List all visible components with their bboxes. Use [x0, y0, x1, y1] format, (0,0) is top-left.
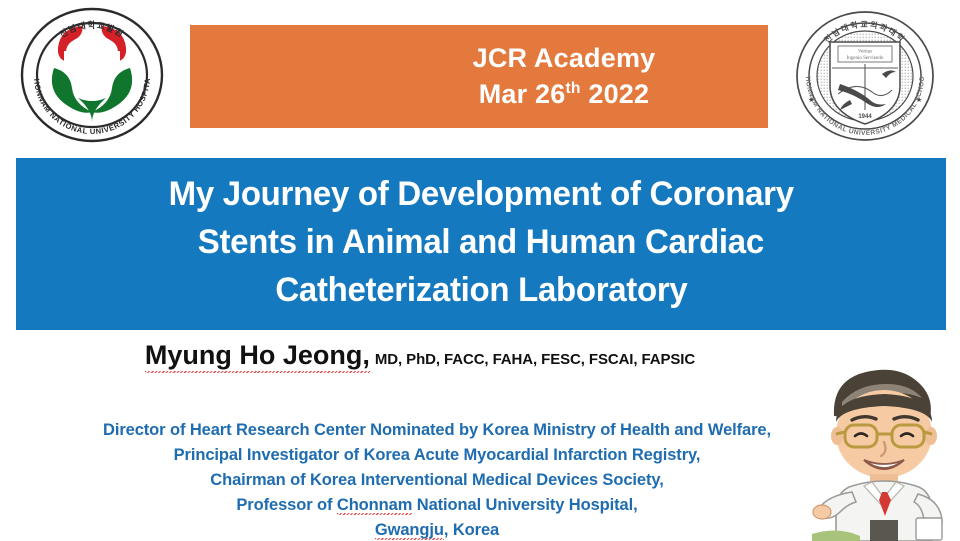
affiliation-line-4-suffix: National University Hospital, [412, 496, 637, 514]
affiliation-line-4-prefix: Professor of [236, 496, 336, 514]
chonnam-national-university-hospital-logo: 전남대학교발원 CHONNAM NATIONAL UNIVERSITY HOSP… [16, 2, 168, 144]
event-date-year: 2022 [581, 79, 650, 109]
seal-motto-line2: Ingenio Serviendo [847, 56, 884, 61]
presenter-name: Myung Ho Jeong, [145, 340, 370, 373]
event-date-prefix: Mar 26 [479, 79, 566, 109]
event-banner: JCR Academy Mar 26th 2022 [190, 25, 768, 128]
title-line-3: Catheterization Laboratory [275, 266, 687, 314]
presentation-slide: 전남대학교발원 CHONNAM NATIONAL UNIVERSITY HOSP… [0, 0, 960, 541]
affiliation-line-4: Professor of Chonnam National University… [0, 493, 874, 518]
chonnam-national-university-medical-school-seal: Veritas Ingenio Serviendo 1944 전남대학교의과대학… [790, 6, 940, 146]
presenter-credentials: MD, PhD, FACC, FAHA, FESC, FSCAI, FAPSIC [375, 351, 695, 368]
title-line-1: My Journey of Development of Coronary [168, 170, 793, 218]
affiliation-line-5-suffix: , Korea [444, 521, 499, 539]
presenter-caricature [812, 362, 960, 541]
affiliation-line-5-misspelled-word: Gwangju [375, 521, 444, 540]
svg-text:★: ★ [916, 96, 922, 104]
presentation-title-box: My Journey of Development of Coronary St… [16, 158, 946, 330]
affiliation-line-4-misspelled-word: Chonnam [337, 496, 412, 515]
svg-text:★: ★ [808, 96, 814, 104]
affiliation-line-2: Principal Investigator of Korea Acute My… [0, 443, 874, 468]
event-date: Mar 26th 2022 [479, 77, 650, 113]
seal-motto-line1: Veritas [858, 50, 872, 55]
event-date-ordinal: th [565, 80, 580, 97]
affiliation-line-3: Chairman of Korea Interventional Medical… [0, 468, 874, 493]
affiliation-line-5: Gwangju, Korea [0, 518, 874, 541]
affiliation-line-1: Director of Heart Research Center Nomina… [0, 418, 874, 443]
seal-year: 1944 [858, 114, 872, 120]
event-name: JCR Academy [473, 41, 656, 77]
title-line-2: Stents in Animal and Human Cardiac [198, 218, 764, 266]
